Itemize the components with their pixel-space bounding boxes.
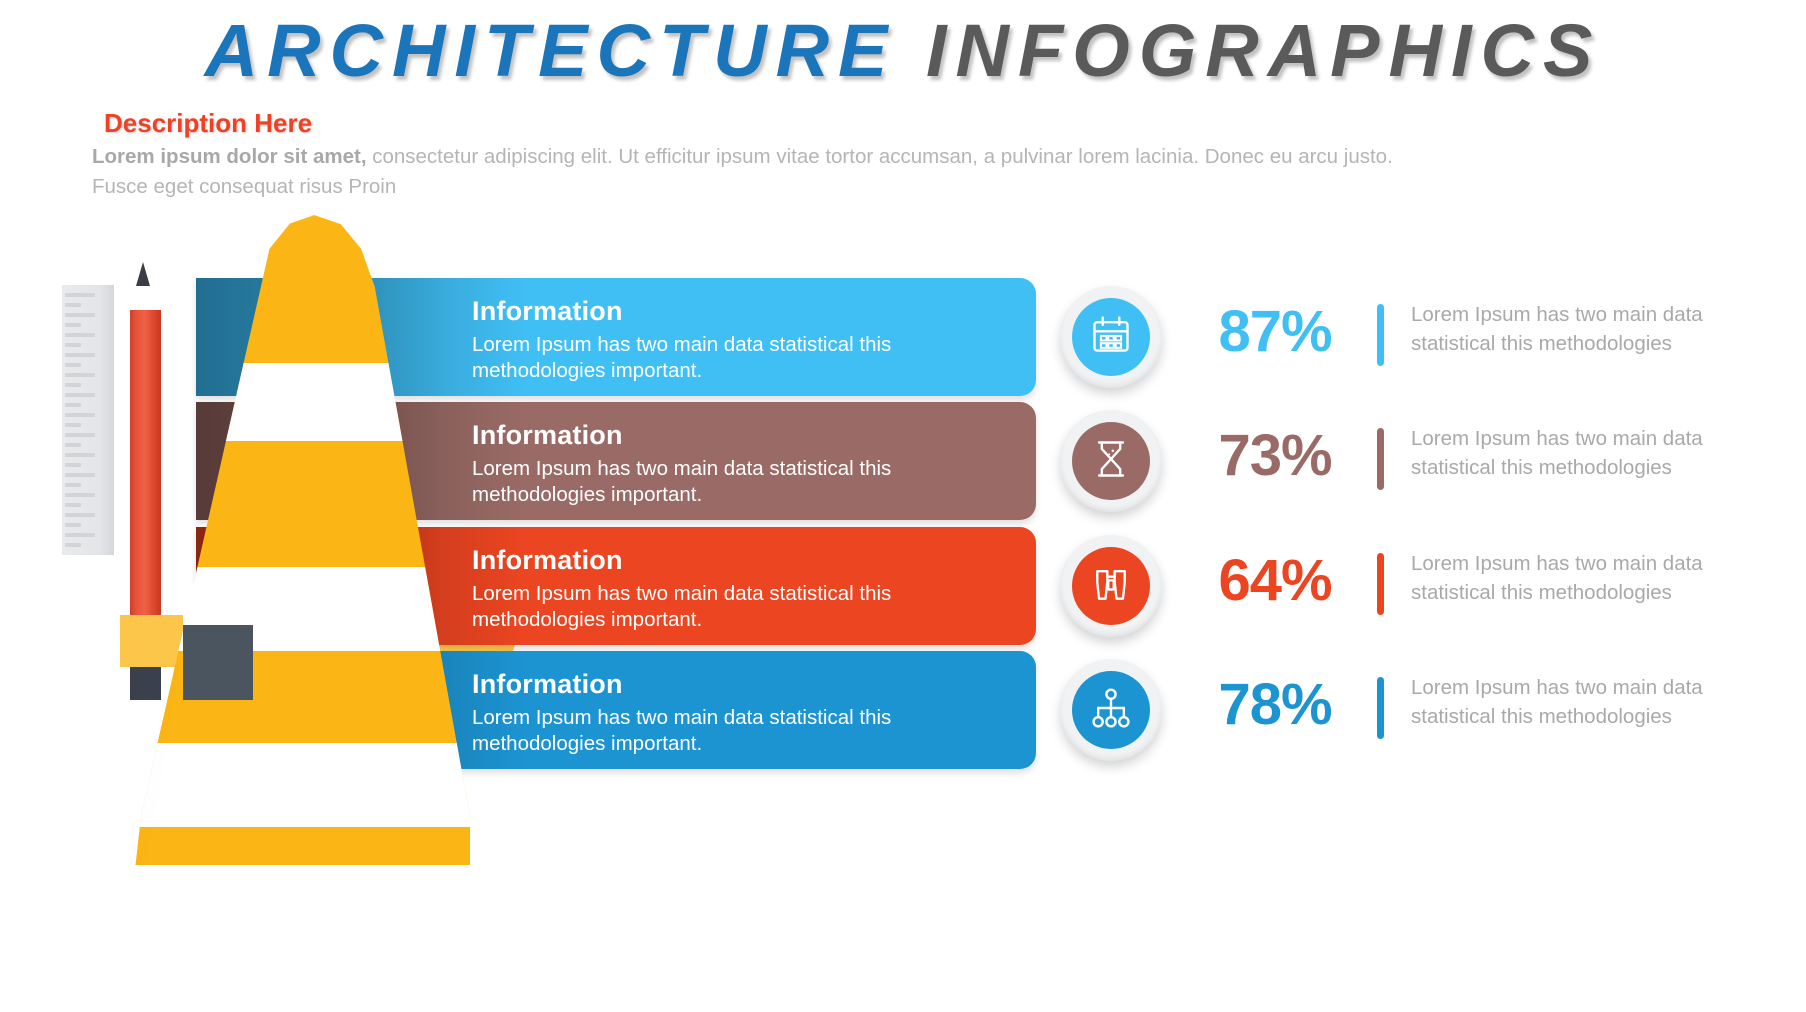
caption-4-text: Lorem Ipsum has two main data statistica… [1411,673,1756,731]
caption-3-accent [1377,553,1384,615]
bar-2[interactable]: Information Lorem Ipsum has two main dat… [196,402,1036,520]
badge-4[interactable] [1060,659,1162,761]
bar-4-text: Lorem Ipsum has two main data statistica… [472,705,1012,757]
bar-1-text: Lorem Ipsum has two main data statistica… [472,332,1012,384]
description-lead: Lorem ipsum dolor sit amet, [92,145,367,168]
page-title-part-2: INFOGRAPHICS [926,9,1601,92]
caption-1-accent [1377,304,1384,366]
bar-4-title: Information [472,667,1012,701]
row-4: Information Lorem Ipsum has two main dat… [0,651,1806,769]
calendar-icon [1089,313,1133,362]
badge-3[interactable] [1060,535,1162,637]
binoculars-icon [1089,562,1133,611]
infographic-canvas: ARCHITECTURE INFOGRAPHICS Description He… [0,0,1806,1012]
bar-2-title: Information [472,418,1012,452]
page-title: ARCHITECTURE INFOGRAPHICS [0,8,1806,94]
badge-2-disc [1072,422,1150,500]
badge-1[interactable] [1060,286,1162,388]
percent-3: 64% [1180,547,1370,614]
bar-3-text: Lorem Ipsum has two main data statistica… [472,581,1012,633]
badge-3-disc [1072,547,1150,625]
page-title-part-1: ARCHITECTURE [205,9,897,92]
description-body: Lorem ipsum dolor sit amet, consectetur … [92,142,1432,202]
badge-2[interactable] [1060,410,1162,512]
row-1: Information Lorem Ipsum has two main dat… [0,278,1806,396]
caption-3-text: Lorem Ipsum has two main data statistica… [1411,549,1756,607]
description-heading: Description Here [104,108,312,139]
eraser-top [183,583,253,629]
percent-4: 78% [1180,671,1370,738]
percent-2: 73% [1180,422,1370,489]
bar-1[interactable]: Information Lorem Ipsum has two main dat… [196,278,1036,396]
row-3: Information Lorem Ipsum has two main dat… [0,527,1806,645]
bar-4[interactable]: Information Lorem Ipsum has two main dat… [196,651,1036,769]
caption-4-accent [1377,677,1384,739]
bar-3-title: Information [472,543,1012,577]
caption-1-text: Lorem Ipsum has two main data statistica… [1411,300,1756,358]
caption-2-text: Lorem Ipsum has two main data statistica… [1411,424,1756,482]
percent-1: 87% [1180,298,1370,365]
eraser-body [183,625,253,700]
hourglass-icon [1089,437,1133,486]
row-2: Information Lorem Ipsum has two main dat… [0,402,1806,520]
bar-2-text: Lorem Ipsum has two main data statistica… [472,456,1012,508]
bar-3[interactable]: Information Lorem Ipsum has two main dat… [196,527,1036,645]
badge-4-disc [1072,671,1150,749]
badge-1-disc [1072,298,1150,376]
caption-2-accent [1377,428,1384,490]
bar-1-title: Information [472,294,1012,328]
org-chart-icon [1089,686,1133,735]
